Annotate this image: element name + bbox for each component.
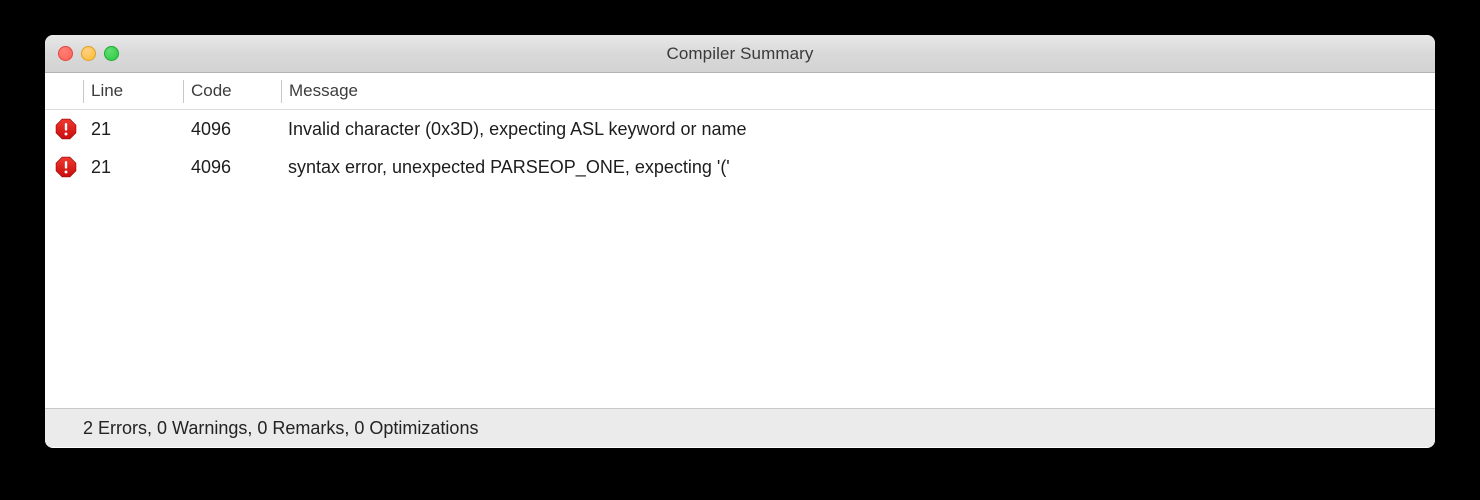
column-header-code[interactable]: Code [191,73,232,109]
column-header-line[interactable]: Line [91,73,123,109]
window-titlebar: Compiler Summary [45,35,1435,73]
row-line-value: 21 [91,148,111,186]
column-divider-1[interactable] [83,80,84,103]
status-summary: 2 Errors, 0 Warnings, 0 Remarks, 0 Optim… [83,409,478,447]
status-bar: 2 Errors, 0 Warnings, 0 Remarks, 0 Optim… [45,408,1435,447]
row-code-value: 4096 [191,148,261,186]
column-divider-3[interactable] [281,80,282,103]
row-message-value: syntax error, unexpected PARSEOP_ONE, ex… [288,148,730,186]
table-header: Line Code Message [45,73,1435,110]
column-header-message[interactable]: Message [289,73,358,109]
error-icon [50,110,82,148]
compiler-summary-window: Compiler Summary Line Code Message [45,35,1435,448]
table-row[interactable]: 21 4096 Invalid character (0x3D), expect… [45,110,1435,148]
window-title: Compiler Summary [45,35,1435,73]
row-line-value: 21 [91,110,111,148]
row-message-value: Invalid character (0x3D), expecting ASL … [288,110,747,148]
column-divider-2[interactable] [183,80,184,103]
message-list[interactable]: 21 4096 Invalid character (0x3D), expect… [45,110,1435,408]
row-code-value: 4096 [191,110,261,148]
table-row[interactable]: 21 4096 syntax error, unexpected PARSEOP… [45,148,1435,186]
error-icon [50,148,82,186]
